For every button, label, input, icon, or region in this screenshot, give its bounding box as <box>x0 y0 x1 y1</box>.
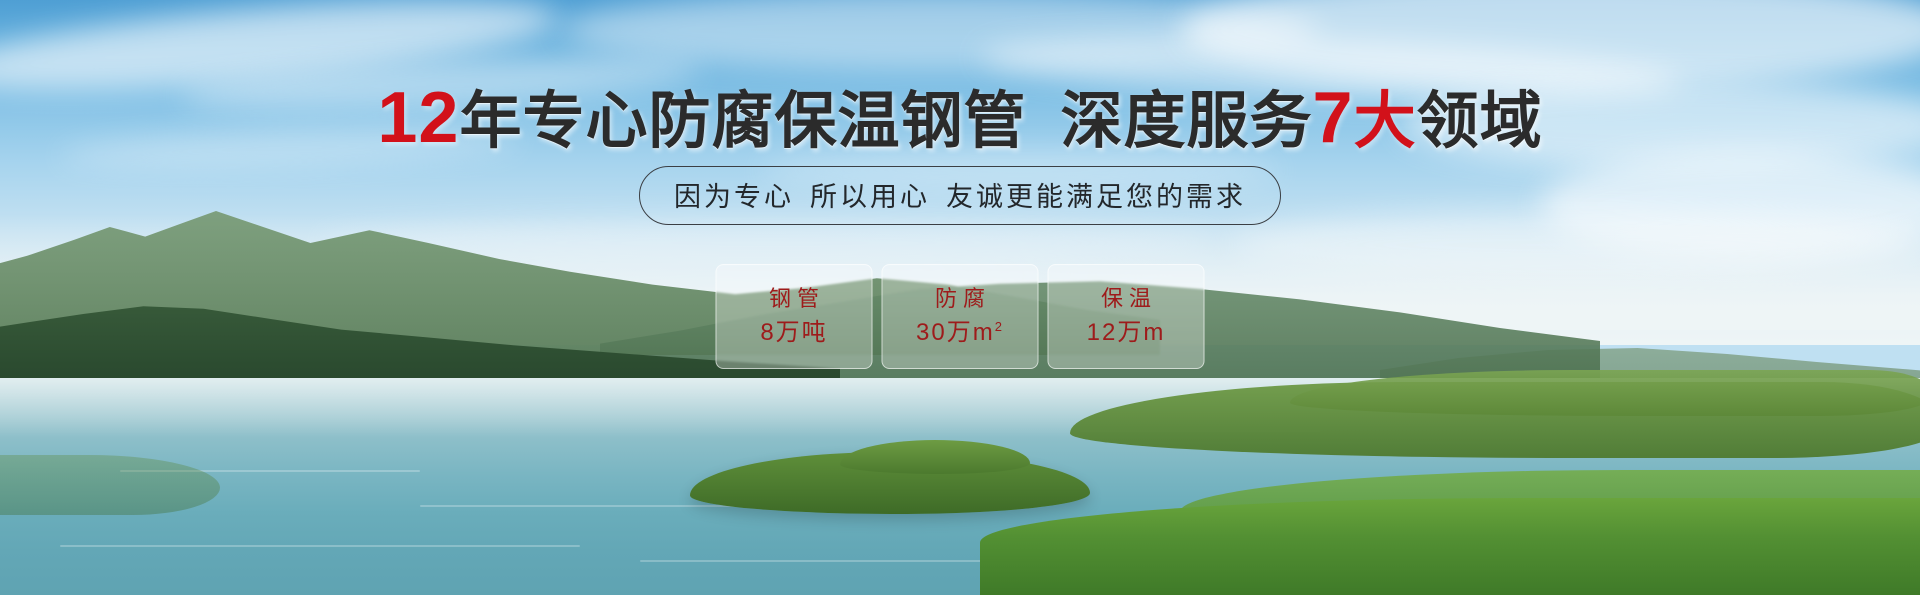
stat-card-value: 12万m <box>1087 320 1166 345</box>
headline-fields-number: 7 <box>1313 78 1354 158</box>
stat-card-steel-pipe[interactable]: 钢管 8万吨 <box>716 264 873 369</box>
water-ripple <box>640 560 1000 562</box>
foreground-grass <box>980 498 1920 595</box>
stat-card-value-text: 12万m <box>1087 319 1166 346</box>
water-ripple <box>60 545 580 547</box>
headline-fields-text: 领域 <box>1417 87 1543 156</box>
subtitle-pill: 因为专心所以用心友诚更能满足您的需求 <box>639 166 1281 225</box>
headline-years-number: 12 <box>377 78 459 158</box>
subtitle-part-2: 所以用心 <box>810 182 930 212</box>
stat-card-list: 钢管 8万吨 防腐 30万m2 保温 12万m <box>716 264 1205 369</box>
stat-card-value-text: 8万吨 <box>760 319 827 346</box>
headline: 12年专心防腐保温钢管年专心防腐保温钢管深度服务7大领域 <box>0 82 1920 154</box>
stat-card-anticorrosion[interactable]: 防腐 30万m2 <box>882 264 1039 369</box>
headline-main-text: 年专心防腐保温钢管 <box>459 87 1026 156</box>
subtitle-part-3: 友诚更能满足您的需求 <box>946 182 1246 212</box>
headline-service-text: 深度服务 <box>1061 87 1313 156</box>
stat-card-value: 30万m2 <box>916 320 1004 345</box>
stat-card-title: 保温 <box>1095 288 1157 310</box>
stat-card-value: 8万吨 <box>760 320 827 345</box>
stat-card-title: 钢管 <box>763 288 825 310</box>
stat-card-value-text: 30万m <box>916 319 995 346</box>
stat-card-value-sup: 2 <box>995 319 1004 334</box>
headline-fields-measure: 大 <box>1354 87 1417 156</box>
stat-card-insulation[interactable]: 保温 12万m <box>1048 264 1205 369</box>
stat-card-title: 防腐 <box>929 288 991 310</box>
subtitle-part-1: 因为专心 <box>674 182 794 212</box>
promo-banner: 12年专心防腐保温钢管年专心防腐保温钢管深度服务7大领域 因为专心所以用心友诚更… <box>0 0 1920 595</box>
